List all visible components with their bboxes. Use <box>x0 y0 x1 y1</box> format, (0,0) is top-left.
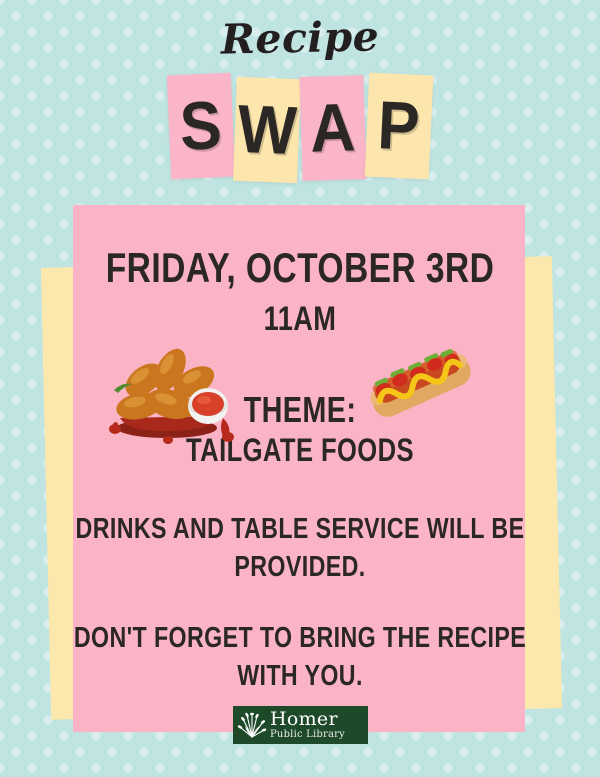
fried-chicken-wings-icon <box>104 336 236 448</box>
swap-letter-w: W <box>236 95 298 165</box>
swap-letter-s: S <box>179 91 224 161</box>
bring-recipe-note: DON'T FORGET TO BRING THE RECIPE WITH YO… <box>60 620 540 695</box>
homer-public-library-logo: Homer Public Library <box>233 706 368 744</box>
service-note: DRINKS AND TABLE SERVICE WILL BE PROVIDE… <box>60 511 540 586</box>
hot-dog-icon <box>362 336 478 430</box>
swap-tile-s: S <box>167 73 235 180</box>
swap-tile-w: W <box>233 77 301 183</box>
fern-leaf-icon <box>237 710 267 740</box>
recipe-script-title: Recipe <box>0 8 600 69</box>
swap-letter-a: A <box>309 93 356 162</box>
swap-tile-p: P <box>365 73 434 180</box>
logo-wordmark: Homer Public Library <box>270 710 345 740</box>
event-date: FRIDAY, OCTOBER 3RD <box>60 244 540 292</box>
logo-name: Homer <box>270 710 345 729</box>
swap-letter-p: P <box>377 91 422 161</box>
swap-letter-blocks: S W A P <box>0 74 600 182</box>
logo-subtitle: Public Library <box>270 730 345 740</box>
swap-tile-a: A <box>299 75 366 181</box>
event-time: 11AM <box>60 300 540 339</box>
